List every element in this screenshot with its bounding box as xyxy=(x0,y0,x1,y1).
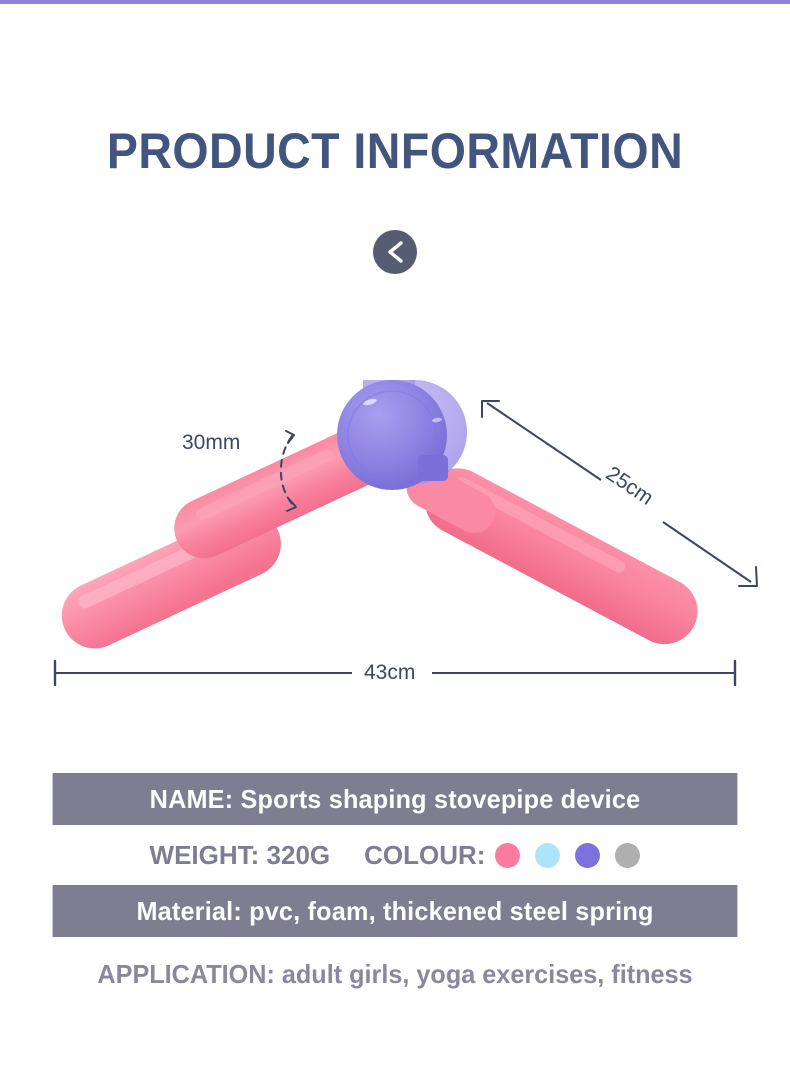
product-illustration xyxy=(0,340,790,700)
colour-swatch-pink[interactable] xyxy=(495,843,520,868)
spec-colour-label: COLOUR: xyxy=(364,840,485,871)
spec-weight: WEIGHT: 320G xyxy=(150,840,331,871)
spec-name-label: NAME: Sports shaping stovepipe device xyxy=(150,784,641,815)
spec-application-label: APPLICATION: adult girls, yoga exercises… xyxy=(53,959,738,990)
spec-colour: COLOUR: xyxy=(364,840,640,871)
spec-material-bar: Material: pvc, foam, thickened steel spr… xyxy=(53,885,738,937)
chevron-left-icon xyxy=(373,230,417,274)
spec-name-bar: NAME: Sports shaping stovepipe device xyxy=(53,773,738,825)
spec-weight-label: WEIGHT: 320G xyxy=(150,840,331,871)
colour-swatch-gray[interactable] xyxy=(615,843,640,868)
spec-weight-colour-row: WEIGHT: 320G COLOUR: xyxy=(42,825,748,885)
dimension-label-diameter: 30mm xyxy=(182,431,240,455)
colour-swatch-list xyxy=(495,843,640,868)
product-right-arm xyxy=(399,457,709,656)
page-title: PRODUCT INFORMATION xyxy=(28,122,763,180)
product-spring-hub xyxy=(337,380,467,490)
spec-material-label: Material: pvc, foam, thickened steel spr… xyxy=(136,896,653,927)
specification-block: NAME: Sports shaping stovepipe device WE… xyxy=(42,773,748,990)
colour-swatch-purple[interactable] xyxy=(575,843,600,868)
colour-swatch-light-blue[interactable] xyxy=(535,843,560,868)
top-accent-bar xyxy=(0,0,790,4)
dimension-label-total-width: 43cm xyxy=(355,661,424,685)
